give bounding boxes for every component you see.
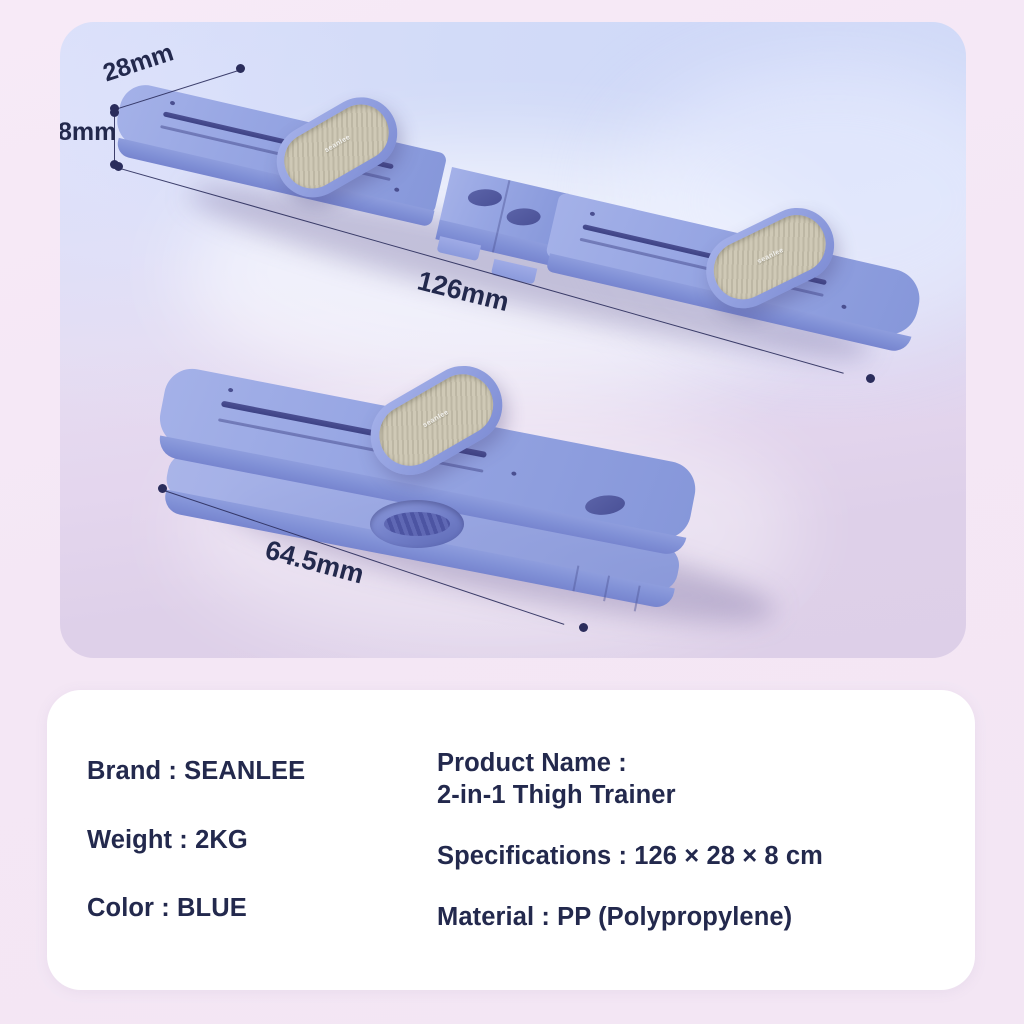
rail-segment-left: [92, 80, 447, 300]
spec-material: Material : PP (Polypropylene): [437, 901, 975, 934]
product-spec-card: Brand : SEANLEE Weight : 2KG Color : BLU…: [47, 690, 975, 990]
product-folded: seanlee: [60, 322, 966, 622]
dim-label-8: 8mm: [60, 118, 116, 147]
dim-dot-126-end: [866, 374, 875, 383]
spec-product-name-block: Product Name : 2-in-1 Thigh Trainer: [437, 747, 975, 812]
spec-product-name-value: 2-in-1 Thigh Trainer: [437, 779, 975, 812]
spec-column-left: Brand : SEANLEE Weight : 2KG Color : BLU…: [47, 755, 427, 925]
spec-color: Color : BLUE: [87, 892, 427, 925]
spec-brand: Brand : SEANLEE: [87, 755, 427, 788]
spec-specifications: Specifications : 126 × 28 × 8 cm: [437, 840, 975, 873]
spec-product-name-label: Product Name :: [437, 747, 975, 780]
hero-product-card: seanlee seanlee: [60, 22, 966, 658]
spec-weight: Weight : 2KG: [87, 824, 427, 857]
dim-dot-645-end: [579, 623, 588, 632]
page-background: seanlee seanlee: [0, 0, 1024, 1024]
dim-dot-28-end: [236, 64, 245, 73]
product-unfolded: seanlee seanlee: [60, 22, 966, 362]
spec-column-right: Product Name : 2-in-1 Thigh Trainer Spec…: [427, 747, 975, 934]
pivot-disc: [370, 500, 464, 548]
